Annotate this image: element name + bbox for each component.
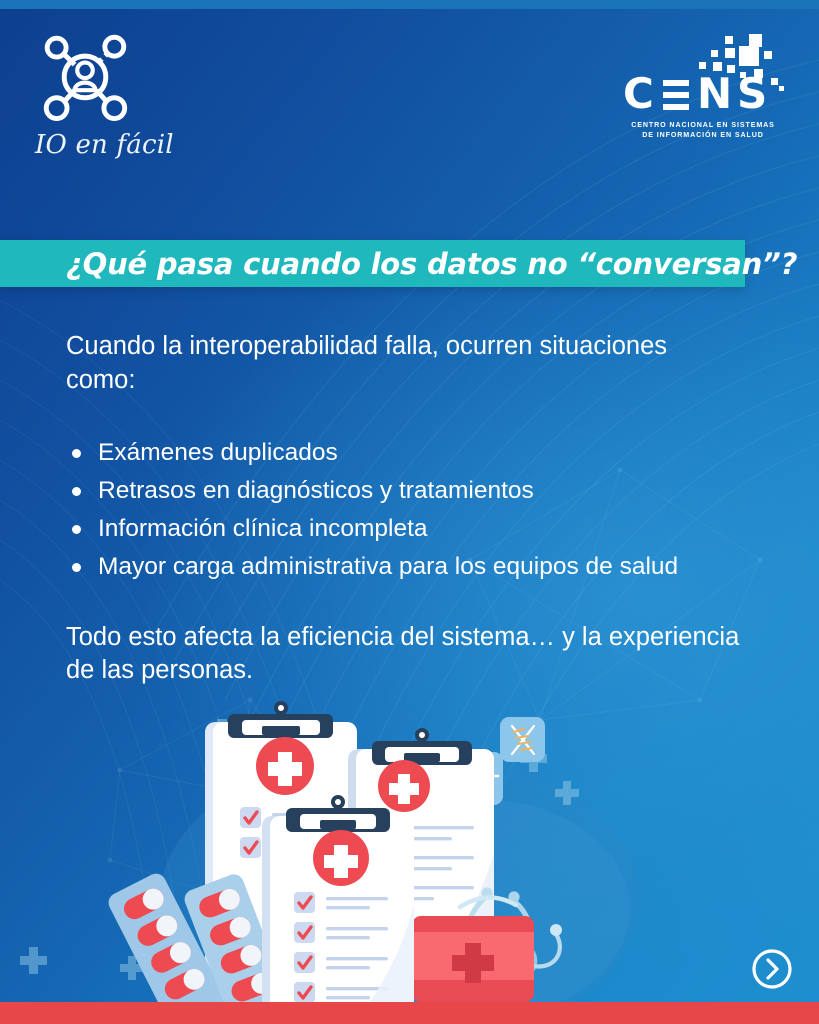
cens-logo: C N S CENTRO NACIONAL EN SISTEMAS DE INF… <box>619 34 789 140</box>
list-item: Exámenes duplicados <box>66 437 756 469</box>
chevron-right-circle-icon <box>751 948 793 990</box>
cens-wordmark: C N S <box>619 78 789 118</box>
io-logo: IO en fácil <box>33 24 149 160</box>
pill-blister-pack-icon <box>105 870 294 1024</box>
cens-tagline-line-1: CENTRO NACIONAL EN SISTEMAS <box>619 120 787 130</box>
body-content: Cuando la interoperabilidad falla, ocurr… <box>66 330 756 688</box>
list-item: Retrasos en diagnósticos y tratamientos <box>66 475 756 507</box>
stethoscope-icon <box>468 887 562 984</box>
bottom-accent-bar <box>0 1002 819 1024</box>
banner-title: ¿Qué pasa cuando los datos no “conversan… <box>66 247 797 281</box>
ecg-heartbeat-icon <box>450 752 503 805</box>
io-logo-label: IO en fácil <box>35 130 149 160</box>
dna-icon <box>500 717 545 762</box>
slide-canvas: IO en fácil <box>0 0 819 1024</box>
network-people-icon <box>33 24 149 128</box>
next-slide-button[interactable] <box>751 948 793 990</box>
svg-text:C: C <box>623 72 660 118</box>
title-banner: ¿Qué pasa cuando los datos no “conversan… <box>0 240 745 287</box>
list-item: Mayor carga administrativa para los equi… <box>66 551 756 583</box>
cens-tagline-line-2: DE INFORMACIÓN EN SALUD <box>619 130 787 140</box>
top-accent-strip <box>0 0 819 9</box>
list-item: Información clínica incompleta <box>66 513 756 545</box>
clipboard-front-icon <box>262 795 414 1024</box>
svg-text:N: N <box>697 72 736 118</box>
clipboard-right-icon <box>348 728 494 994</box>
medical-illustration <box>0 694 819 1024</box>
svg-text:S: S <box>737 72 767 118</box>
cens-tagline: CENTRO NACIONAL EN SISTEMAS DE INFORMACI… <box>619 120 787 140</box>
problem-list: Exámenes duplicados Retrasos en diagnóst… <box>66 437 756 582</box>
intro-paragraph: Cuando la interoperabilidad falla, ocurr… <box>66 330 706 397</box>
outro-paragraph: Todo esto afecta la eficiencia del siste… <box>66 621 756 688</box>
first-aid-kit-icon <box>412 897 534 1002</box>
clipboard-back-icon <box>205 701 357 987</box>
